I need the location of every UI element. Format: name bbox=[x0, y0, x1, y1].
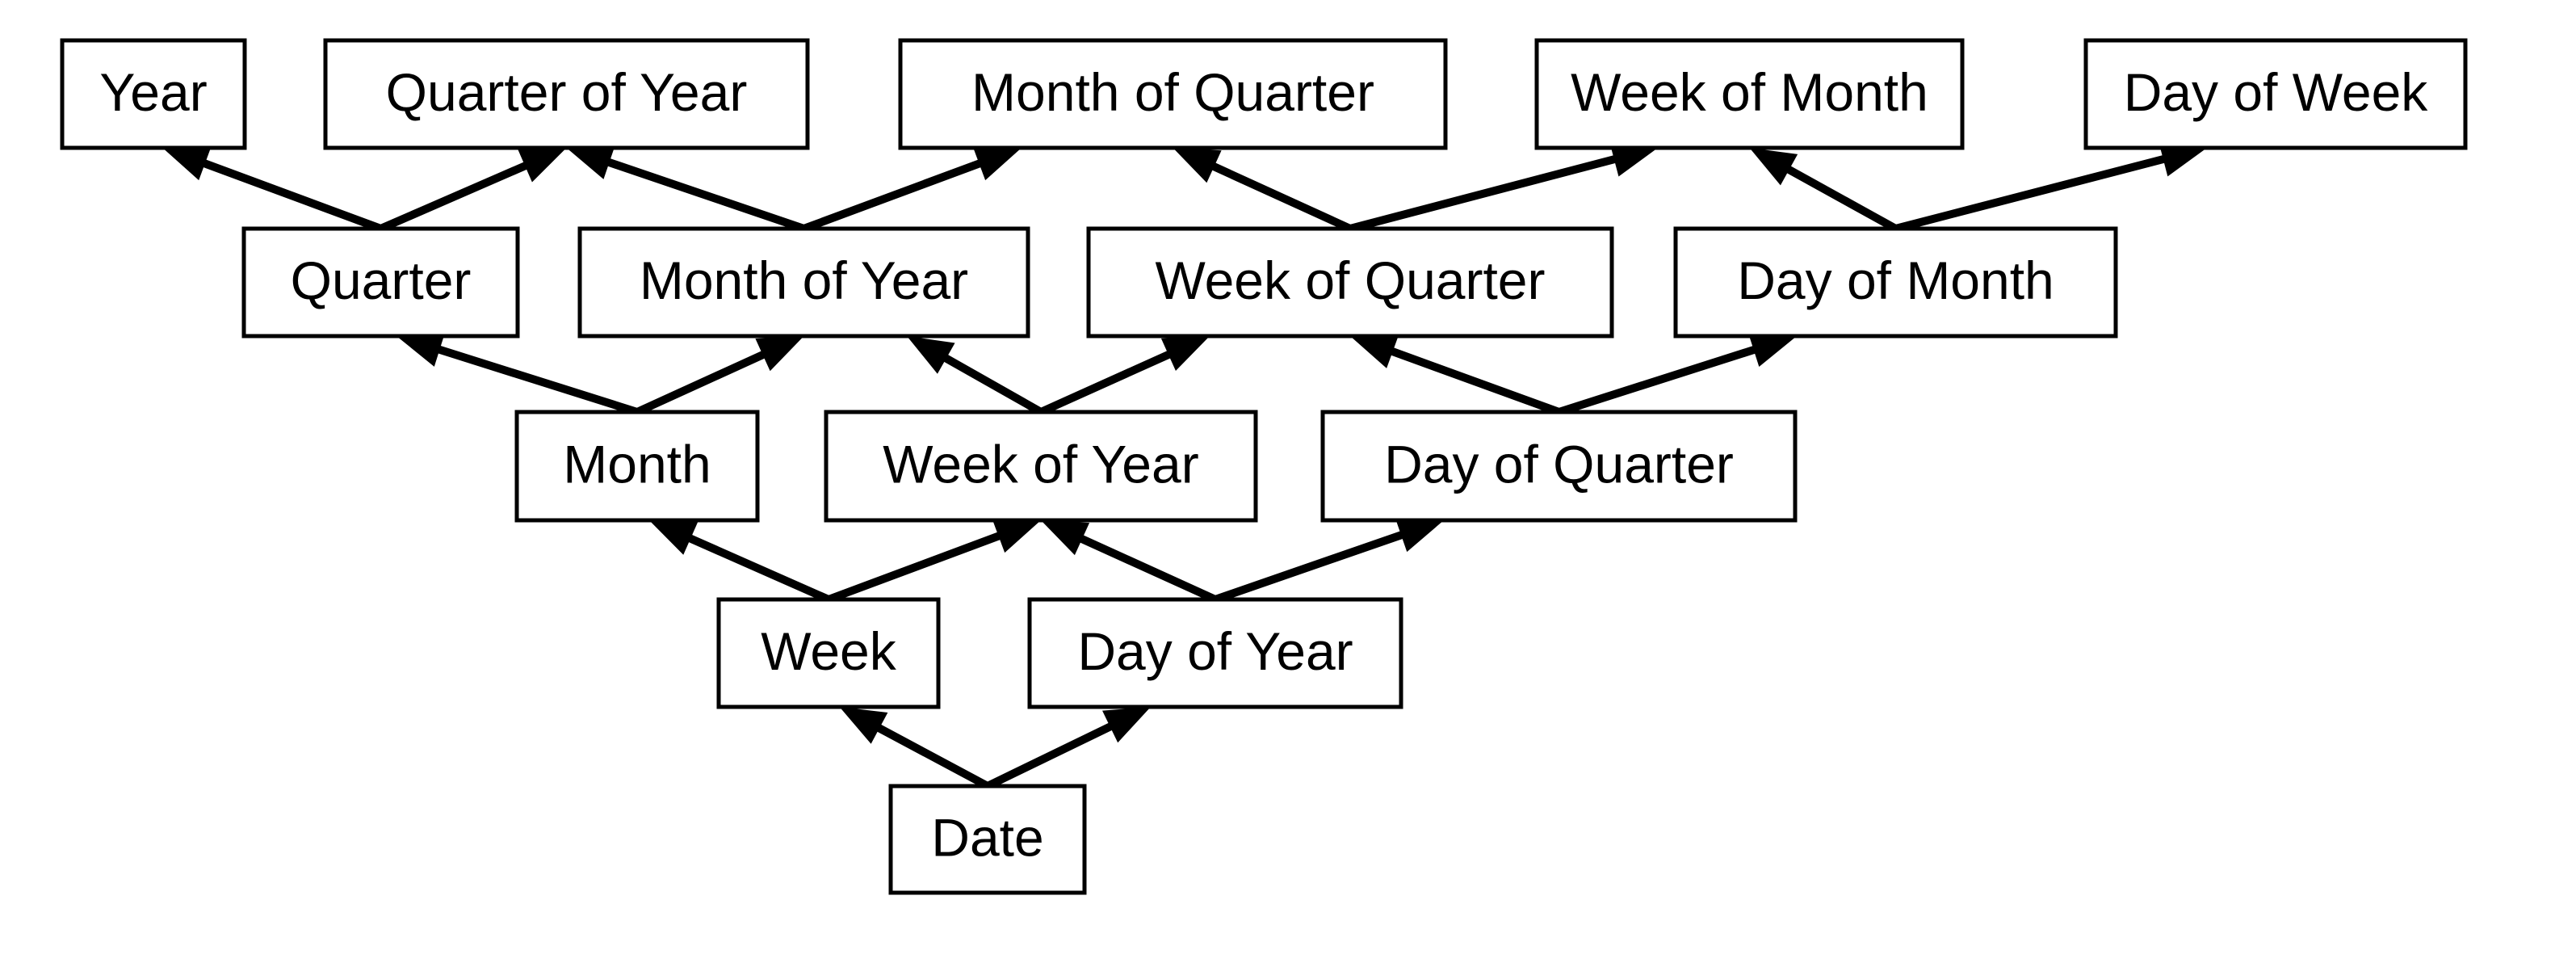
node-month_of_quarter[interactable]: Month of Quarter bbox=[900, 40, 1445, 148]
edge-line bbox=[1041, 353, 1173, 412]
edge-line bbox=[1215, 533, 1406, 599]
edge-arrowhead bbox=[649, 520, 698, 555]
edge-line bbox=[1350, 158, 1619, 229]
edge-day-of-year-to-week-of-year bbox=[1041, 520, 1215, 599]
node-month[interactable]: Month bbox=[517, 412, 757, 520]
edge-day-of-quarter-to-week-of-quarter bbox=[1350, 334, 1559, 412]
diagram-canvas: YearQuarter of YearMonth of QuarterWeek … bbox=[0, 0, 2576, 963]
edge-arrowhead bbox=[973, 147, 1022, 180]
edge-line bbox=[435, 348, 637, 412]
edge-day-of-year-to-day-of-quarter bbox=[1215, 519, 1444, 599]
node-year[interactable]: Year bbox=[62, 40, 245, 148]
edge-line bbox=[686, 536, 829, 599]
node-label: Month of Quarter bbox=[971, 62, 1374, 122]
edge-arrowhead bbox=[1161, 336, 1210, 371]
node-label: Day of Quarter bbox=[1384, 434, 1734, 494]
edge-arrowhead bbox=[907, 336, 955, 374]
edge-arrowhead bbox=[1102, 707, 1151, 742]
edge-arrowhead bbox=[840, 707, 888, 744]
edge-arrowhead bbox=[1041, 520, 1089, 555]
edge-line bbox=[1896, 158, 2168, 229]
edge-line bbox=[381, 164, 530, 229]
node-label: Year bbox=[99, 62, 207, 122]
node-day_of_quarter[interactable]: Day of Quarter bbox=[1323, 412, 1795, 520]
edge-line bbox=[1559, 348, 1759, 412]
edge-arrowhead bbox=[1173, 148, 1222, 183]
node-label: Day of Week bbox=[2124, 62, 2429, 122]
edge-date-to-week bbox=[840, 707, 988, 786]
node-label: Month bbox=[563, 434, 711, 494]
edge-month-of-year-to-quarter-of-year bbox=[567, 145, 804, 229]
node-week_of_quarter[interactable]: Week of Quarter bbox=[1089, 229, 1612, 336]
node-week[interactable]: Week bbox=[719, 599, 938, 707]
edge-line bbox=[875, 726, 988, 786]
edge-week-to-week-of-year bbox=[829, 519, 1041, 599]
node-label: Quarter of Year bbox=[386, 62, 748, 122]
edge-quarter-to-quarter-of-year bbox=[381, 148, 567, 229]
edge-line bbox=[637, 353, 767, 412]
edge-line bbox=[1210, 165, 1350, 229]
node-label: Month of Year bbox=[640, 250, 968, 310]
node-quarter_of_year[interactable]: Quarter of Year bbox=[325, 40, 808, 148]
node-day_of_week[interactable]: Day of Week bbox=[2086, 40, 2465, 148]
edge-line bbox=[1785, 167, 1895, 229]
node-label: Quarter bbox=[291, 250, 472, 310]
edge-arrowhead bbox=[162, 147, 211, 180]
edge-arrowhead bbox=[1395, 519, 1444, 553]
node-month_of_year[interactable]: Month of Year bbox=[580, 229, 1028, 336]
edge-week-of-year-to-week-of-quarter bbox=[1041, 336, 1210, 412]
node-day_of_year[interactable]: Day of Year bbox=[1030, 599, 1401, 707]
edge-week-to-month bbox=[649, 520, 829, 599]
edge-arrowhead bbox=[755, 336, 803, 371]
node-label: Week of Year bbox=[883, 434, 1198, 494]
edge-line bbox=[1078, 537, 1215, 599]
edge-line bbox=[988, 725, 1114, 786]
node-label: Day of Year bbox=[1077, 621, 1353, 681]
edge-quarter-to-year bbox=[162, 147, 380, 229]
node-label: Week bbox=[761, 621, 897, 681]
edge-arrowhead bbox=[1350, 334, 1399, 368]
edge-month-of-year-to-month-of-quarter bbox=[804, 147, 1022, 229]
edge-day-of-month-to-week-of-month bbox=[1750, 148, 1896, 229]
edge-week-of-quarter-to-month-of-quarter bbox=[1173, 148, 1351, 229]
node-label: Day of Month bbox=[1737, 250, 2054, 310]
edge-date-to-day-of-year bbox=[988, 707, 1151, 786]
edge-day-of-month-to-day-of-week bbox=[1896, 142, 2208, 229]
node-week_of_month[interactable]: Week of Month bbox=[1537, 40, 1962, 148]
node-day_of_month[interactable]: Day of Month bbox=[1676, 229, 2116, 336]
node-week_of_year[interactable]: Week of Year bbox=[826, 412, 1256, 520]
edge-week-of-year-to-month-of-year bbox=[907, 336, 1041, 412]
node-label: Week of Quarter bbox=[1156, 250, 1546, 310]
edge-line bbox=[829, 534, 1003, 599]
edge-arrowhead bbox=[518, 148, 566, 183]
node-label: Date bbox=[931, 807, 1043, 867]
edge-line bbox=[942, 356, 1041, 412]
node-label: Week of Month bbox=[1571, 62, 1928, 122]
edge-line bbox=[605, 161, 804, 229]
edge-arrowhead bbox=[567, 145, 615, 179]
node-date[interactable]: Date bbox=[891, 786, 1085, 893]
edge-month-to-month-of-year bbox=[637, 336, 804, 412]
edge-week-of-quarter-to-week-of-month bbox=[1350, 142, 1658, 229]
node-quarter[interactable]: Quarter bbox=[244, 229, 518, 336]
edge-month-to-quarter bbox=[396, 333, 637, 412]
edge-line bbox=[200, 162, 380, 229]
edge-day-of-quarter-to-day-of-month bbox=[1559, 333, 1798, 412]
edge-arrowhead bbox=[992, 519, 1041, 553]
edge-arrowhead bbox=[1750, 148, 1798, 185]
date-hierarchy-diagram: YearQuarter of YearMonth of QuarterWeek … bbox=[0, 0, 2576, 963]
edge-line bbox=[1388, 350, 1559, 412]
nodes-layer: YearQuarter of YearMonth of QuarterWeek … bbox=[62, 40, 2465, 893]
edge-line bbox=[804, 162, 984, 229]
